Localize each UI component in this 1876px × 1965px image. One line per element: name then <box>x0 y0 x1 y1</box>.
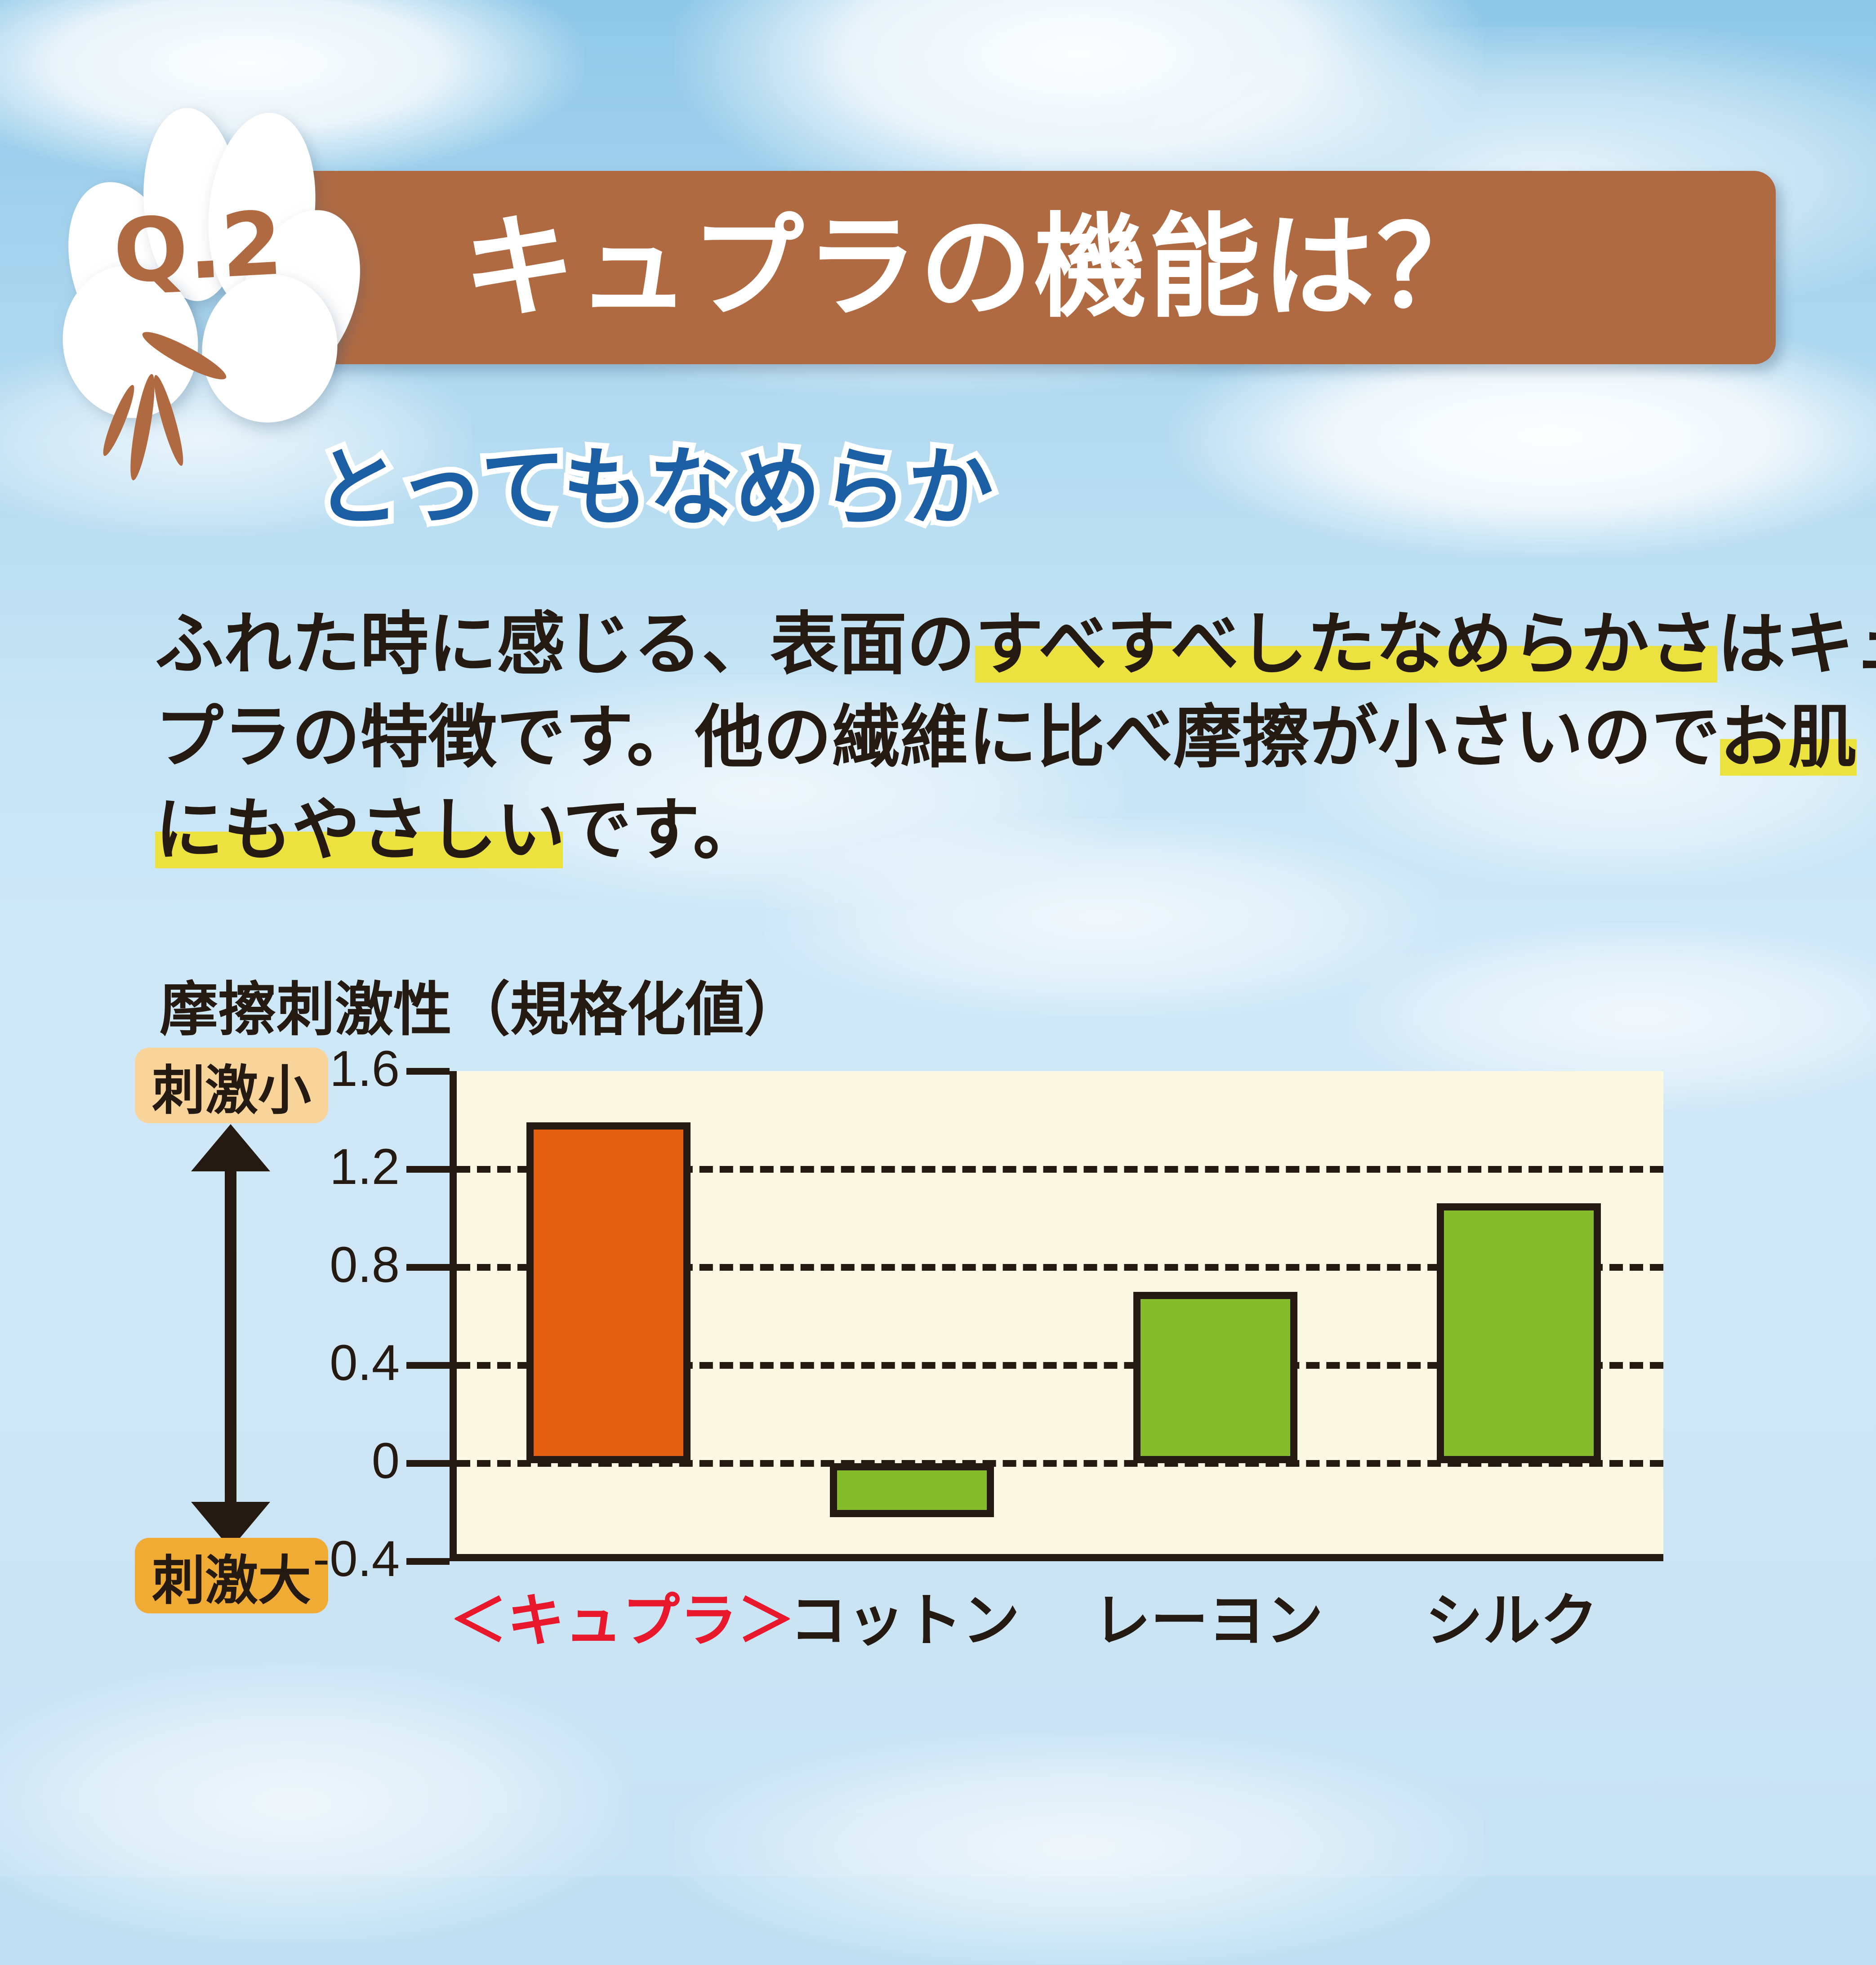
body-line-1-plain-b: はキュ <box>1717 606 1876 683</box>
y-axis-tick <box>406 1362 450 1369</box>
y-axis-tick <box>406 1068 450 1075</box>
x-axis-label-0: ＜キュプラ＞ <box>450 1574 753 1657</box>
y-axis-tick-label: 0.8 <box>251 1236 400 1294</box>
y-axis-tick <box>406 1166 450 1173</box>
x-axis-label-2: レーヨン <box>1056 1574 1360 1657</box>
y-axis-tick-label: -0.4 <box>251 1530 400 1588</box>
bar-3 <box>1437 1203 1601 1463</box>
plot-area <box>450 1071 1663 1561</box>
body-line-3: にもやさしいです。 <box>155 784 1818 877</box>
section-subtitle: とってもなめらか <box>315 418 994 542</box>
body-line-2-plain-a: プラの特徴です。他の繊維に比べ摩擦が小さいので <box>155 699 1720 776</box>
arrow-shaft <box>225 1144 236 1527</box>
y-axis-tick <box>406 1264 450 1271</box>
bar-1 <box>830 1463 994 1517</box>
cotton-boll-icon: Q.2 <box>54 103 369 445</box>
bar-0 <box>526 1122 691 1463</box>
chart-title: 摩擦刺激性（規格化値） <box>160 962 802 1047</box>
y-axis-tick-label: 0.4 <box>251 1334 400 1392</box>
y-axis-tick <box>406 1558 450 1565</box>
body-line-2-highlight: お肌 <box>1720 699 1857 776</box>
y-axis-tick <box>406 1460 450 1467</box>
body-paragraph: ふれた時に感じる、表面のすべすべしたなめらかさはキュ プラの特徴です。他の繊維に… <box>155 598 1818 877</box>
body-line-1-highlight: すべすべしたなめらかさ <box>975 606 1717 683</box>
x-axis-label-1: コットン <box>753 1574 1056 1657</box>
body-line-3-plain-b: です。 <box>563 792 761 868</box>
y-axis-tick-label: 1.2 <box>251 1138 400 1196</box>
body-line-2: プラの特徴です。他の繊維に比べ摩擦が小さいのでお肌 <box>155 691 1818 784</box>
header: キュプラの機能は？ Q.2 <box>0 67 1876 319</box>
y-axis-tick-label: 0 <box>251 1432 400 1490</box>
header-banner: キュプラの機能は？ <box>270 171 1776 364</box>
page-title: キュプラの機能は？ <box>270 171 1776 364</box>
body-line-3-highlight: にもやさしい <box>155 792 563 868</box>
x-axis-label-3: シルク <box>1360 1574 1663 1657</box>
friction-bar-chart: 刺激小 刺激大 1.61.20.80.40-0.4 ＜キュプラ＞コットンレーヨン… <box>0 1052 1876 1727</box>
bar-2 <box>1133 1292 1297 1464</box>
body-line-1: ふれた時に感じる、表面のすべすべしたなめらかさはキュ <box>155 598 1818 691</box>
body-line-1-plain-a: ふれた時に感じる、表面の <box>155 606 975 683</box>
cloud-shape <box>674 1731 1484 1965</box>
y-axis-tick-label: 1.6 <box>251 1040 400 1098</box>
badge-label: Q.2 <box>51 181 345 313</box>
